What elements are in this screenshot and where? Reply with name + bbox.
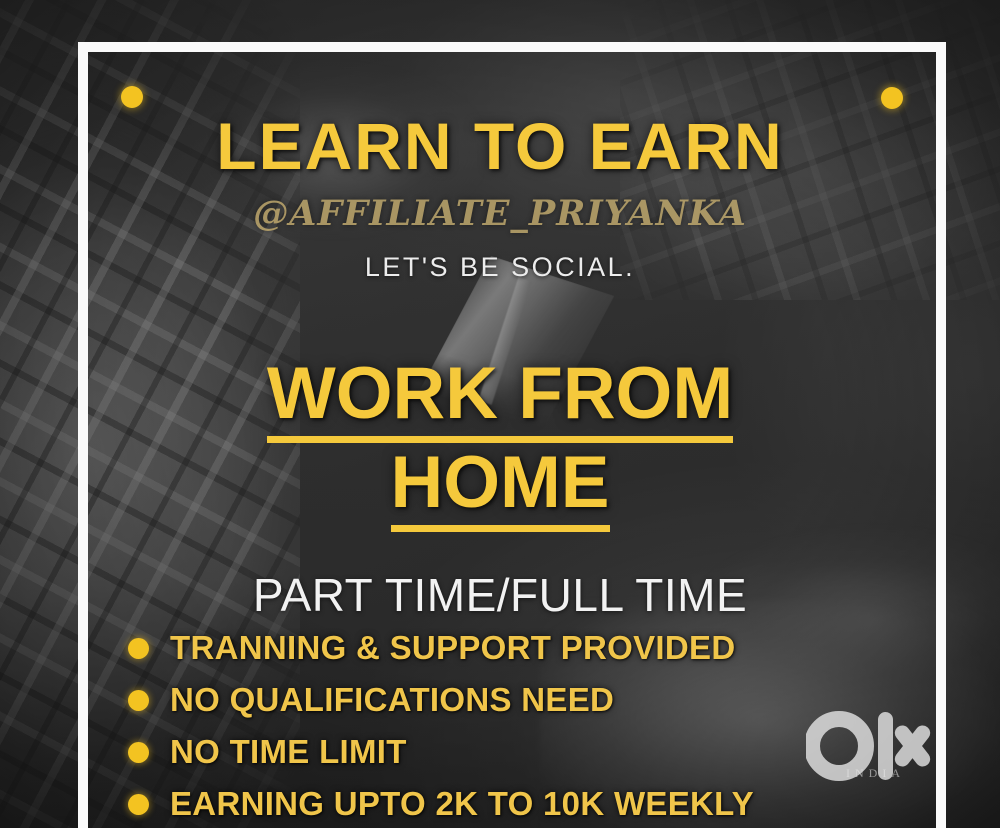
list-item-label: NO QUALIFICATIONS NEED <box>170 681 614 719</box>
poster-image: LEARN TO EARN @AFFILIATE_PRIYANKA LET'S … <box>0 0 1000 828</box>
bullet-dot-icon <box>128 690 149 711</box>
olx-region-label: INDIA <box>846 766 905 781</box>
list-item-label: EARNING UPTO 2K TO 10K WEEKLY <box>170 785 754 823</box>
poster-headline: LEARN TO EARN <box>0 108 1000 184</box>
poster-subheading: PART TIME/FULL TIME <box>0 568 1000 622</box>
instagram-handle: @AFFILIATE_PRIYANKA <box>0 193 1000 234</box>
list-item: TRANNING & SUPPORT PROVIDED <box>128 622 948 674</box>
bullet-dot-icon <box>128 742 149 763</box>
poster-tagline: LET'S BE SOCIAL. <box>0 252 1000 283</box>
list-item-label: NO TIME LIMIT <box>170 733 407 771</box>
bullet-dot-icon <box>128 638 149 659</box>
bullet-dot-icon <box>128 794 149 815</box>
main-title-line-1-text: WORK FROM <box>267 357 733 443</box>
main-title-line-2-text: HOME <box>391 446 610 532</box>
list-item-label: TRANNING & SUPPORT PROVIDED <box>170 629 735 667</box>
main-title-line-1: WORK FROM <box>0 352 1000 443</box>
main-title-line-2: HOME <box>0 441 1000 532</box>
